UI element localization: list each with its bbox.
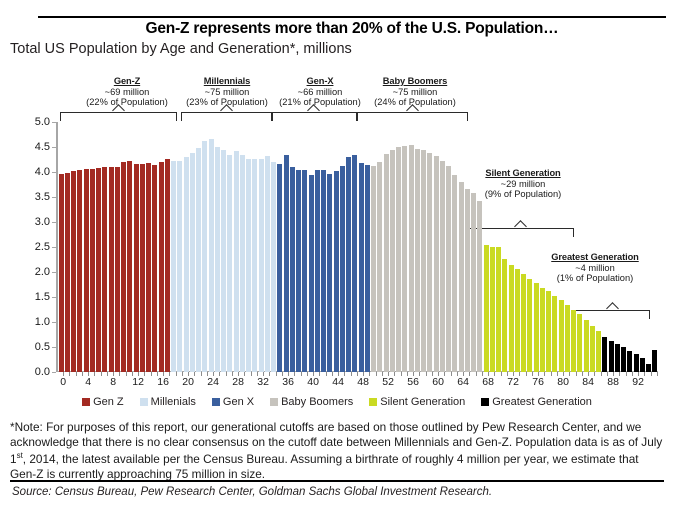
y-axis-tick-label: 2.5 — [35, 241, 50, 253]
bar — [359, 163, 364, 373]
x-axis-tick-mark — [101, 372, 102, 376]
legend-swatch-icon — [481, 398, 489, 406]
bar — [265, 156, 270, 373]
x-axis-tick-mark — [301, 372, 302, 376]
x-axis-tick-label: 28 — [232, 376, 244, 388]
x-axis-tick-mark — [582, 372, 583, 376]
bar — [215, 147, 220, 372]
annotation-baby-boomers: Baby Boomers ~75 million (24% of Populat… — [357, 76, 473, 108]
x-axis-tick-label: 92 — [632, 376, 644, 388]
bar — [334, 171, 339, 372]
bar — [540, 288, 545, 372]
bar — [546, 291, 551, 372]
bar — [202, 141, 207, 372]
x-axis-tick-label: 48 — [357, 376, 369, 388]
plot-area: 0.00.51.01.52.02.53.03.54.04.55.0 — [56, 122, 658, 372]
bar — [327, 174, 332, 372]
bar — [127, 161, 132, 372]
x-axis-tick-mark — [551, 372, 552, 376]
x-axis-tick-mark — [194, 372, 195, 376]
x-axis-tick-mark — [644, 372, 645, 376]
x-axis-tick-mark — [382, 372, 383, 376]
x-axis-tick-mark — [126, 372, 127, 376]
x-axis-tick-mark — [507, 372, 508, 376]
legend-swatch-icon — [82, 398, 90, 406]
bar — [521, 274, 526, 372]
bar — [115, 167, 120, 373]
bar — [627, 351, 632, 372]
bar — [615, 344, 620, 372]
y-axis-tick-label: 4.5 — [35, 141, 50, 153]
x-axis-tick-label: 20 — [182, 376, 194, 388]
x-axis-tick-mark — [151, 372, 152, 376]
legend-label: Millenials — [151, 396, 196, 408]
x-axis-tick-label: 80 — [557, 376, 569, 388]
bar — [440, 161, 445, 372]
bar — [384, 154, 389, 372]
bar — [284, 155, 289, 373]
x-axis-tick-mark — [638, 372, 639, 376]
bar — [484, 245, 489, 373]
footnote-part2: , 2014, the latest available per the Cen… — [10, 452, 639, 481]
x-axis-tick-mark — [519, 372, 520, 376]
bar — [352, 155, 357, 372]
x-axis-tick-label: 52 — [382, 376, 394, 388]
x-axis-tick-mark — [344, 372, 345, 376]
x-axis-tick-label: 44 — [332, 376, 344, 388]
x-axis-tick-mark — [432, 372, 433, 376]
bar — [371, 166, 376, 373]
bar — [221, 150, 226, 373]
bar — [309, 175, 314, 372]
x-axis-tick-mark — [257, 372, 258, 376]
bar — [571, 310, 576, 373]
x-axis-tick-mark — [463, 372, 464, 376]
bar — [652, 350, 657, 373]
bar — [452, 175, 457, 372]
bar — [252, 159, 257, 373]
bar — [621, 347, 626, 372]
x-axis-tick-mark — [219, 372, 220, 376]
x-axis-tick-mark — [494, 372, 495, 376]
x-axis-tick-mark — [294, 372, 295, 376]
x-axis-tick-mark — [332, 372, 333, 376]
legend-item[interactable]: Gen X — [212, 396, 254, 408]
bar — [84, 169, 89, 372]
bar — [77, 170, 82, 372]
legend-item[interactable]: Millenials — [140, 396, 196, 408]
bar — [552, 296, 557, 373]
bar — [321, 170, 326, 373]
legend-label: Greatest Generation — [492, 396, 592, 408]
bar — [421, 150, 426, 372]
x-axis-tick-mark — [201, 372, 202, 376]
x-axis-tick-mark — [169, 372, 170, 376]
y-axis-tick-label: 5.0 — [35, 116, 50, 128]
x-axis-tick-mark — [613, 372, 614, 376]
x-axis-tick-mark — [532, 372, 533, 376]
x-axis-tick-mark — [388, 372, 389, 376]
y-axis-tick-mark — [52, 222, 56, 223]
bar — [277, 164, 282, 373]
legend-label: Silent Generation — [380, 396, 465, 408]
legend-swatch-icon — [212, 398, 220, 406]
bar — [559, 300, 564, 373]
legend-swatch-icon — [140, 398, 148, 406]
bar — [121, 162, 126, 372]
x-axis-tick-mark — [482, 372, 483, 376]
bar — [596, 331, 601, 372]
bar — [302, 170, 307, 373]
bar — [602, 337, 607, 372]
bar — [346, 157, 351, 372]
bar — [102, 167, 107, 372]
x-axis-tick-mark — [307, 372, 308, 376]
x-axis-tick-mark — [401, 372, 402, 376]
y-axis-tick-mark — [52, 322, 56, 323]
bar — [152, 165, 157, 372]
bar — [177, 161, 182, 372]
bar — [296, 170, 301, 372]
x-axis-tick-mark — [657, 372, 658, 376]
x-axis-tick-mark — [451, 372, 452, 376]
legend-swatch-icon — [270, 398, 278, 406]
bar — [227, 155, 232, 372]
bar — [584, 320, 589, 373]
x-axis-tick-mark — [157, 372, 158, 376]
x-axis-tick-mark — [563, 372, 564, 376]
x-axis-tick-mark — [69, 372, 70, 376]
bar — [590, 326, 595, 372]
bar — [246, 159, 251, 372]
x-axis-tick-label: 40 — [307, 376, 319, 388]
x-axis-tick-label: 76 — [532, 376, 544, 388]
x-axis-tick-label: 8 — [110, 376, 116, 388]
header-rule — [38, 16, 666, 18]
bar — [402, 146, 407, 372]
x-axis-tick-mark — [588, 372, 589, 376]
bar — [377, 162, 382, 372]
x-axis-tick-mark — [276, 372, 277, 376]
x-axis-tick-mark — [251, 372, 252, 376]
chart-legend: Gen ZMillenialsGen XBaby BoomersSilent G… — [0, 396, 674, 408]
x-axis-tick-mark — [138, 372, 139, 376]
x-axis-tick-mark — [651, 372, 652, 376]
y-axis-tick-label: 0.5 — [35, 341, 50, 353]
x-axis-tick-mark — [76, 372, 77, 376]
bar — [109, 167, 114, 372]
x-axis-tick-mark — [426, 372, 427, 376]
x-axis-tick-mark — [313, 372, 314, 376]
bar — [140, 164, 145, 373]
bar — [446, 166, 451, 372]
x-axis-tick-mark — [438, 372, 439, 376]
x-axis-tick-mark — [469, 372, 470, 376]
x-axis-tick-mark — [288, 372, 289, 376]
bar-series-container — [58, 122, 658, 372]
bar — [190, 153, 195, 372]
y-axis-tick-label: 3.0 — [35, 216, 50, 228]
bar — [509, 265, 514, 373]
bar — [196, 148, 201, 372]
x-axis-tick-mark — [176, 372, 177, 376]
bar — [365, 165, 370, 372]
y-axis-tick-label: 3.5 — [35, 191, 50, 203]
x-axis-tick-mark — [63, 372, 64, 376]
bar — [315, 170, 320, 372]
x-axis-tick-mark — [132, 372, 133, 376]
x-axis-tick-label: 12 — [132, 376, 144, 388]
annotation-baby-boomers-millions: ~75 million — [357, 87, 473, 98]
x-axis: 0481216202428323640444852566064687276808… — [58, 372, 658, 394]
x-axis-tick-mark — [263, 372, 264, 376]
bar — [240, 155, 245, 372]
x-axis-tick-mark — [107, 372, 108, 376]
bar — [459, 182, 464, 373]
y-axis-tick-mark — [52, 372, 56, 373]
x-axis-tick-mark — [226, 372, 227, 376]
y-axis-tick-label: 4.0 — [35, 166, 50, 178]
x-axis-tick-label: 84 — [582, 376, 594, 388]
bar — [534, 283, 539, 372]
x-axis-tick-label: 64 — [457, 376, 469, 388]
x-axis-tick-mark — [213, 372, 214, 376]
bar — [209, 139, 214, 372]
bar — [646, 364, 651, 372]
y-axis-tick-mark — [52, 172, 56, 173]
x-axis-tick-mark — [601, 372, 602, 376]
x-axis-tick-mark — [607, 372, 608, 376]
x-axis-tick-mark — [501, 372, 502, 376]
y-axis-tick-mark — [52, 197, 56, 198]
bar — [577, 314, 582, 372]
x-axis-tick-mark — [94, 372, 95, 376]
chart-page: Gen-Z represents more than 20% of the U.… — [0, 0, 674, 512]
bar — [159, 162, 164, 373]
x-axis-tick-mark — [238, 372, 239, 376]
x-axis-tick-mark — [282, 372, 283, 376]
x-axis-tick-mark — [113, 372, 114, 376]
legend-label: Gen X — [223, 396, 254, 408]
x-axis-tick-label: 68 — [482, 376, 494, 388]
x-axis-tick-mark — [319, 372, 320, 376]
x-axis-tick-mark — [413, 372, 414, 376]
x-axis-tick-mark — [557, 372, 558, 376]
y-axis-tick-label: 1.5 — [35, 291, 50, 303]
bar — [165, 159, 170, 372]
bar — [90, 169, 95, 373]
x-axis-tick-mark — [351, 372, 352, 376]
x-axis-tick-label: 56 — [407, 376, 419, 388]
legend-label: Baby Boomers — [281, 396, 353, 408]
x-axis-tick-mark — [207, 372, 208, 376]
y-axis-tick-label: 0.0 — [35, 366, 50, 378]
x-axis-tick-mark — [407, 372, 408, 376]
bar — [396, 147, 401, 373]
x-axis-tick-mark — [244, 372, 245, 376]
bar — [146, 163, 151, 372]
y-axis-tick-mark — [52, 122, 56, 123]
bar — [427, 153, 432, 372]
bar — [609, 341, 614, 372]
bar — [59, 174, 64, 372]
bar — [471, 193, 476, 372]
x-axis-tick-mark — [88, 372, 89, 376]
legend-item[interactable]: Greatest Generation — [481, 396, 592, 408]
bar — [65, 173, 70, 372]
bar — [409, 145, 414, 373]
x-axis-tick-mark — [488, 372, 489, 376]
x-axis-tick-mark — [544, 372, 545, 376]
x-axis-tick-label: 60 — [432, 376, 444, 388]
x-axis-tick-mark — [369, 372, 370, 376]
x-axis-tick-mark — [476, 372, 477, 376]
bar — [477, 201, 482, 372]
x-axis-tick-mark — [576, 372, 577, 376]
x-axis-tick-mark — [444, 372, 445, 376]
x-axis-tick-mark — [376, 372, 377, 376]
bar — [496, 247, 501, 372]
y-axis-tick-mark — [52, 147, 56, 148]
bar — [340, 166, 345, 373]
x-axis-tick-label: 4 — [85, 376, 91, 388]
bar — [134, 164, 139, 372]
x-axis-tick-mark — [182, 372, 183, 376]
y-axis-tick-mark — [52, 297, 56, 298]
legend-label: Gen Z — [93, 396, 124, 408]
x-axis-tick-label: 36 — [282, 376, 294, 388]
x-axis-tick-mark — [363, 372, 364, 376]
x-axis-tick-mark — [119, 372, 120, 376]
x-axis-tick-mark — [326, 372, 327, 376]
x-axis-tick-mark — [626, 372, 627, 376]
bar — [259, 159, 264, 373]
chart-subtitle: Total US Population by Age and Generatio… — [10, 41, 352, 57]
x-axis-tick-mark — [513, 372, 514, 376]
x-axis-tick-mark — [457, 372, 458, 376]
bar — [171, 161, 176, 373]
x-axis-tick-label: 24 — [207, 376, 219, 388]
bar — [234, 151, 239, 372]
y-axis-tick-label: 1.0 — [35, 316, 50, 328]
x-axis-tick-mark — [394, 372, 395, 376]
x-axis-tick-mark — [619, 372, 620, 376]
x-axis-tick-label: 0 — [60, 376, 66, 388]
x-axis-tick-mark — [163, 372, 164, 376]
x-axis-tick-mark — [594, 372, 595, 376]
x-axis-tick-label: 32 — [257, 376, 269, 388]
bar — [640, 358, 645, 372]
bar — [502, 259, 507, 373]
bar — [71, 171, 76, 372]
x-axis-tick-mark — [188, 372, 189, 376]
x-axis-tick-mark — [419, 372, 420, 376]
bar — [515, 269, 520, 372]
bar — [634, 354, 639, 372]
x-axis-tick-mark — [538, 372, 539, 376]
x-axis-tick-mark — [144, 372, 145, 376]
annotation-baby-boomers-name: Baby Boomers — [357, 76, 473, 87]
bar — [271, 162, 276, 373]
bar — [415, 149, 420, 372]
x-axis-tick-mark — [82, 372, 83, 376]
bar — [490, 247, 495, 373]
x-axis-tick-mark — [269, 372, 270, 376]
source-rule — [10, 480, 664, 482]
bar — [184, 157, 189, 373]
source-line: Source: Census Bureau, Pew Research Cent… — [12, 486, 492, 498]
bar — [527, 279, 532, 373]
bar — [290, 167, 295, 372]
x-axis-tick-label: 16 — [157, 376, 169, 388]
y-axis-tick-label: 2.0 — [35, 266, 50, 278]
legend-item[interactable]: Silent Generation — [369, 396, 465, 408]
legend-item[interactable]: Baby Boomers — [270, 396, 353, 408]
x-axis-tick-mark — [232, 372, 233, 376]
x-axis-tick-mark — [357, 372, 358, 376]
bar — [96, 168, 101, 372]
y-axis-tick-mark — [52, 347, 56, 348]
x-axis-tick-mark — [632, 372, 633, 376]
page-title: Gen-Z represents more than 20% of the U.… — [38, 20, 666, 38]
y-axis-tick-mark — [52, 272, 56, 273]
bar — [465, 189, 470, 372]
x-axis-tick-mark — [338, 372, 339, 376]
x-axis-tick-label: 72 — [507, 376, 519, 388]
footnote: *Note: For purposes of this report, our … — [10, 420, 664, 481]
bar — [390, 150, 395, 372]
legend-swatch-icon — [369, 398, 377, 406]
x-axis-tick-mark — [526, 372, 527, 376]
x-axis-tick-label: 88 — [607, 376, 619, 388]
bar — [434, 156, 439, 373]
bar — [565, 305, 570, 373]
legend-item[interactable]: Gen Z — [82, 396, 124, 408]
y-axis-tick-mark — [52, 247, 56, 248]
x-axis-tick-mark — [569, 372, 570, 376]
